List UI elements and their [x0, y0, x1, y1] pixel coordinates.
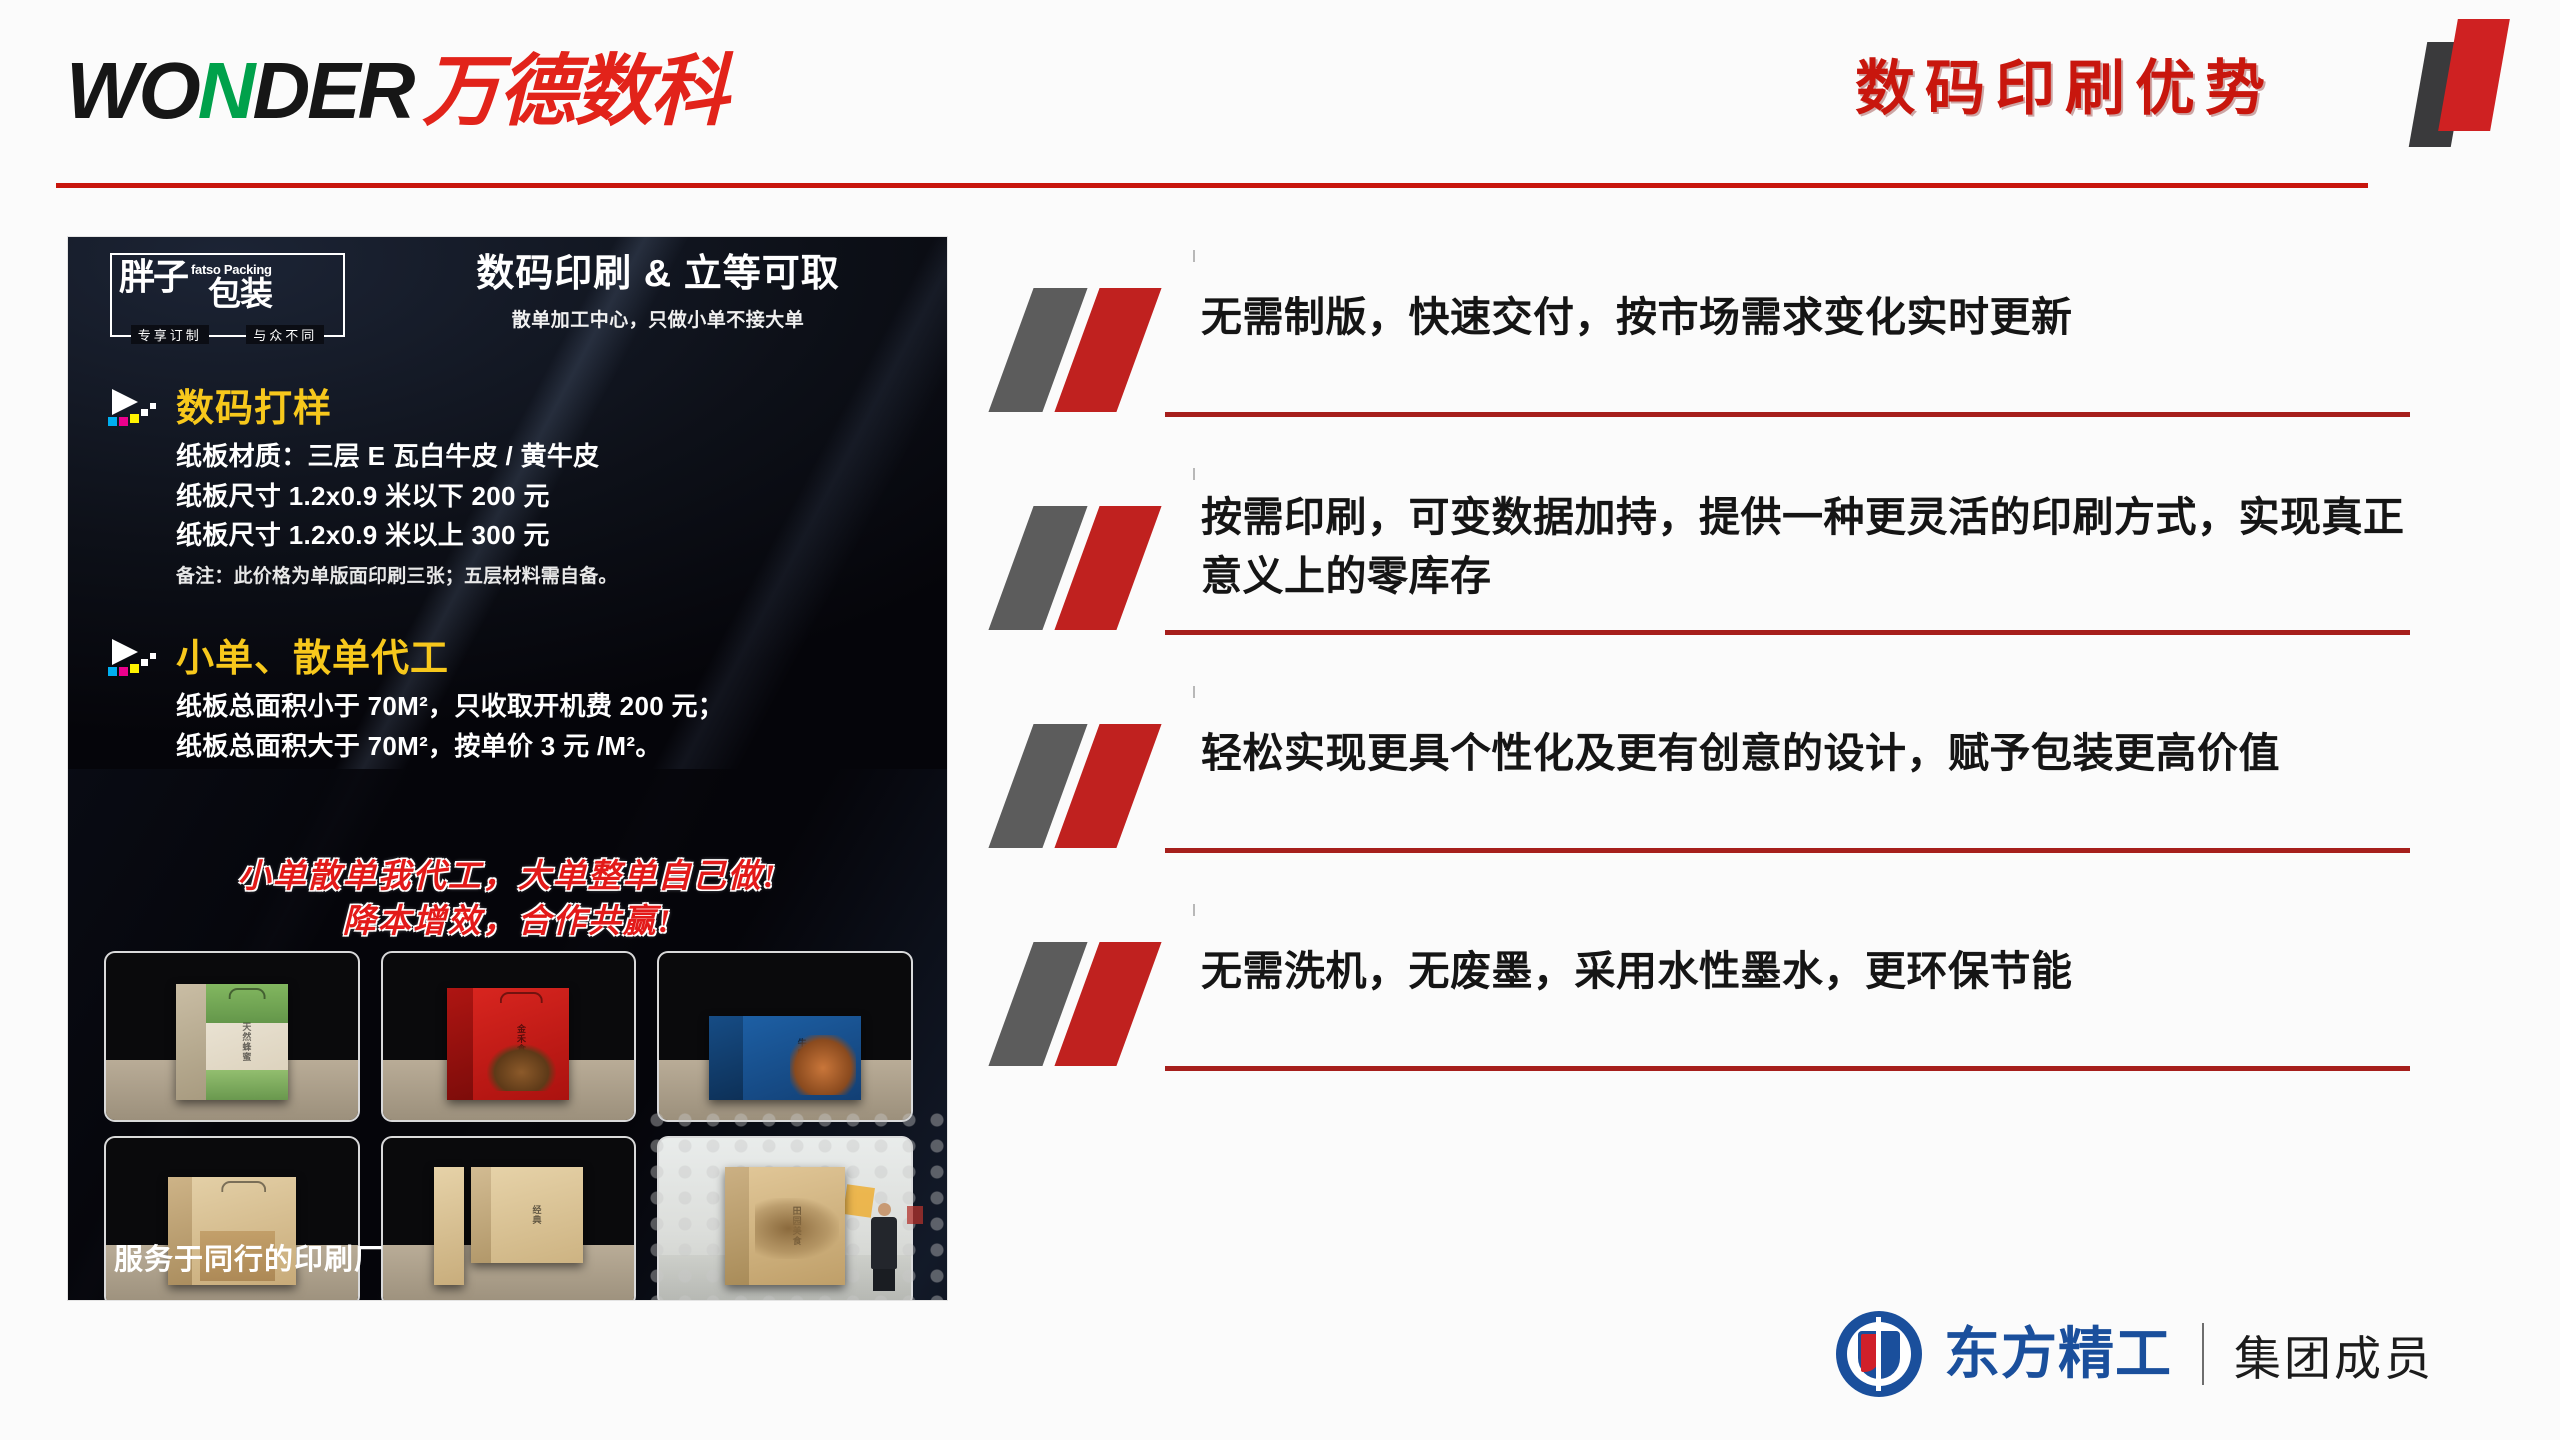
brand-logo-part-3: DER — [253, 51, 413, 131]
poster-section-note: 备注：此价格为单版面印刷三张；五层材料需自备。 — [176, 561, 618, 588]
poster-headline-sub: 散单加工中心，只做小单不接大单 — [388, 305, 928, 332]
tick-mark — [1193, 686, 1195, 698]
fatso-logo-cn-top: 胖子 — [119, 261, 187, 295]
poster-section-line: 纸板总面积大于 70M²，按单价 3 元 /M²。 — [176, 727, 724, 767]
person-figure — [869, 1203, 899, 1291]
list-item: 按需印刷，可变数据加持，提供一种更灵活的印刷方式，实现真正意义上的零库存 — [1005, 468, 2425, 686]
chevron-arrow-icon — [108, 387, 164, 431]
promo-poster-image: 胖子 fatso Packing 包装 专享订制 与众不同 数码印刷 & 立等可… — [68, 237, 947, 1300]
poster-headline-main: 数码印刷 & 立等可取 — [388, 253, 928, 297]
list-item-underline — [1165, 630, 2410, 635]
product-photo: 经典 — [383, 1138, 635, 1300]
product-label: 经典 — [530, 1205, 543, 1225]
product-photo: 金禾食品 — [383, 953, 635, 1120]
bullet-marker-icon — [1005, 288, 1175, 416]
poster-section-line: 纸板尺寸 1.2x0.9 米以下 200 元 — [176, 477, 618, 517]
bullet-marker-icon — [1005, 506, 1175, 634]
poster-slogan-line-2: 降本增效，合作共赢! — [68, 900, 947, 945]
fatso-logo-cn-bottom: 包装 — [208, 277, 272, 310]
brand-logo-part-2: N — [198, 51, 253, 131]
poster-section-title: 小单、散单代工 — [176, 640, 449, 678]
poster-slogan-line-1: 小单散单我代工，大单整单自己做! — [68, 855, 947, 900]
footer-member-text: 集团成员 — [2234, 1320, 2434, 1389]
footer-company-name: 东方精工 — [1944, 1326, 2172, 1382]
poster-section-line: 纸板材质：三层 E 瓦白牛皮 / 黄牛皮 — [176, 437, 618, 477]
brand-logo-chinese: 万德数科 — [422, 52, 726, 130]
slide-header: WONDER 万德数科 数码印刷优势 — [0, 0, 2560, 200]
dongfang-emblem-icon — [1836, 1311, 1922, 1397]
product-label: 田园美食 — [791, 1206, 804, 1246]
list-item-underline — [1165, 412, 2410, 417]
corner-mark-red-shape — [2438, 19, 2510, 131]
bullet-marker-icon — [1005, 724, 1175, 852]
tick-mark — [1193, 468, 1195, 480]
footer-group-logo: 东方精工 集团成员 — [1836, 1306, 2434, 1402]
list-item: 无需制版，快速交付，按市场需求变化实时更新 — [1005, 250, 2425, 468]
poster-section-line: 纸板总面积小于 70M²，只收取开机费 200 元； — [176, 687, 724, 727]
poster-footer-text: 服务于同行的印刷厂 — [114, 1236, 384, 1278]
tick-mark — [1193, 250, 1195, 262]
page-title: 数码印刷优势 — [1855, 40, 2275, 127]
footer-divider — [2202, 1323, 2204, 1385]
product-photo: 牛肉馅饼 — [659, 953, 911, 1120]
brand-logo-latin: WONDER — [66, 51, 412, 131]
list-item-text: 轻松实现更具个性化及更有创意的设计，赋予包装更高价值 — [1201, 724, 2425, 783]
list-item-underline — [1165, 1066, 2410, 1071]
poster-section-proofing: 数码打样 纸板材质：三层 E 瓦白牛皮 / 黄牛皮 纸板尺寸 1.2x0.9 米… — [108, 387, 618, 588]
list-item-text: 无需洗机，无废墨，采用水性墨水，更环保节能 — [1201, 942, 2425, 1001]
fatso-packing-logo: 胖子 fatso Packing 包装 专享订制 与众不同 — [110, 253, 345, 337]
advantages-list: 无需制版，快速交付，按市场需求变化实时更新 按需印刷，可变数据加持，提供一种更灵… — [1005, 250, 2425, 1122]
header-divider — [56, 183, 2368, 188]
tick-mark — [1193, 904, 1195, 916]
poster-top-band: 胖子 fatso Packing 包装 专享订制 与众不同 数码印刷 & 立等可… — [68, 237, 947, 352]
brand-logo: WONDER 万德数科 — [66, 48, 726, 134]
poster-section-small-orders: 小单、散单代工 纸板总面积小于 70M²，只收取开机费 200 元； 纸板总面积… — [108, 637, 724, 766]
product-label: 金禾食品 — [515, 1024, 528, 1064]
chevron-arrow-icon — [108, 637, 164, 681]
fatso-logo-tag-right: 与众不同 — [246, 325, 324, 344]
fatso-logo-tag-left: 专享订制 — [131, 325, 209, 344]
product-label: 牛肉馅饼 — [796, 1038, 809, 1078]
poster-section-title: 数码打样 — [176, 390, 332, 428]
bullet-marker-icon — [1005, 942, 1175, 1070]
brand-logo-part-1: WO — [66, 51, 198, 131]
list-item: 轻松实现更具个性化及更有创意的设计，赋予包装更高价值 — [1005, 686, 2425, 904]
list-item-underline — [1165, 848, 2410, 853]
list-item-text: 无需制版，快速交付，按市场需求变化实时更新 — [1201, 288, 2425, 347]
poster-slogan: 小单散单我代工，大单整单自己做! 降本增效，合作共赢! — [68, 855, 947, 944]
list-item-text: 按需印刷，可变数据加持，提供一种更灵活的印刷方式，实现真正意义上的零库存 — [1201, 488, 2425, 607]
product-label: 天然蜂蜜 — [240, 1022, 253, 1062]
corner-decoration-icon — [2412, 4, 2530, 154]
list-item: 无需洗机，无废墨，采用水性墨水，更环保节能 — [1005, 904, 2425, 1122]
product-photo: 天然蜂蜜 — [106, 953, 358, 1120]
poster-section-line: 纸板尺寸 1.2x0.9 米以上 300 元 — [176, 516, 618, 556]
poster-headline: 数码印刷 & 立等可取 散单加工中心，只做小单不接大单 — [388, 253, 928, 332]
